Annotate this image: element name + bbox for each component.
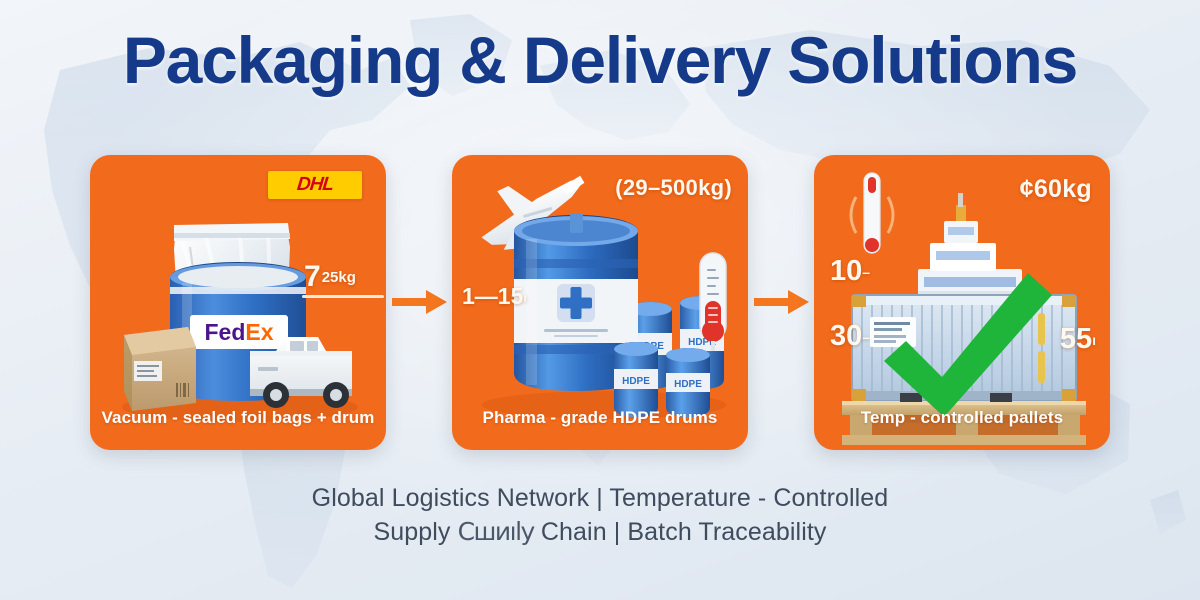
flow-arrow-1-icon <box>392 289 448 315</box>
tagline-line-2: Supply Cшиıly Chain | Batch Traceability <box>0 515 1200 549</box>
badge-weight-60kg: ¢60kg <box>1020 175 1092 204</box>
arrow-gap-2 <box>748 155 814 450</box>
badge-temp-30-tick: – <box>862 329 870 345</box>
card1-caption: Vacuum - sealed foil bags + drum <box>98 408 378 428</box>
svg-text:HDPE: HDPE <box>622 376 650 387</box>
tagline-line-2-before: Supply <box>373 518 457 546</box>
badge-weight-unit: 25kg <box>322 269 356 286</box>
badge-55-tick: ı <box>1092 332 1096 348</box>
card-temp-controlled[interactable]: ¢60kg 10– 30– 55ı Temp - controlled pall… <box>814 155 1110 450</box>
badge-temp-10: 10– <box>830 255 870 288</box>
slide-root: Packaging & Delivery Solutions <box>0 0 1200 600</box>
tagline: Global Logistics Network | Temperature -… <box>0 482 1200 549</box>
flow-arrow-2-icon <box>754 289 810 315</box>
dhl-logo: DHL <box>268 171 362 199</box>
badge-temp-10-tick: – <box>862 264 870 280</box>
dhl-logo-text: DHL <box>296 174 334 196</box>
badge-55-value: 55 <box>1060 323 1092 355</box>
badge-underline-rule <box>302 295 384 298</box>
badge-temp-30-value: 30 <box>830 320 862 352</box>
badge-range-tick: ı <box>523 291 526 305</box>
badge-value-55: 55ı <box>1060 323 1096 356</box>
badge-range-1-15: 1—15ı <box>462 283 527 310</box>
badge-weight-7-25kg: 725kg <box>304 260 356 294</box>
card1-artwork: FedEx <box>90 155 386 450</box>
badge-temp-10-value: 10 <box>830 255 862 287</box>
badge-temp-30: 30– <box>830 320 870 353</box>
card3-caption: Temp - controlled pallets <box>822 408 1102 428</box>
card-pharma-hdpe[interactable]: HDPE HDPE <box>452 155 748 450</box>
tagline-line-1: Global Logistics Network | Temperature -… <box>312 484 889 512</box>
badge-weight-range: (29–500kg) <box>615 175 732 201</box>
tagline-line-2-after: Chain | Batch Traceability <box>534 518 827 546</box>
arrow-gap-1 <box>386 155 452 450</box>
page-title: Packaging & Delivery Solutions <box>0 26 1200 95</box>
card-vacuum-sealed[interactable]: FedEx <box>90 155 386 450</box>
badge-weight-value: 7 <box>304 260 321 293</box>
svg-text:HDPE: HDPE <box>674 379 702 390</box>
svg-text:FedEx: FedEx <box>204 319 273 345</box>
cards-row: FedEx <box>0 155 1200 450</box>
card2-caption: Pharma - grade HDPE drums <box>460 408 740 428</box>
badge-range-value: 1—15 <box>462 283 523 309</box>
tagline-garbled-text: Cшиıly <box>458 517 534 546</box>
